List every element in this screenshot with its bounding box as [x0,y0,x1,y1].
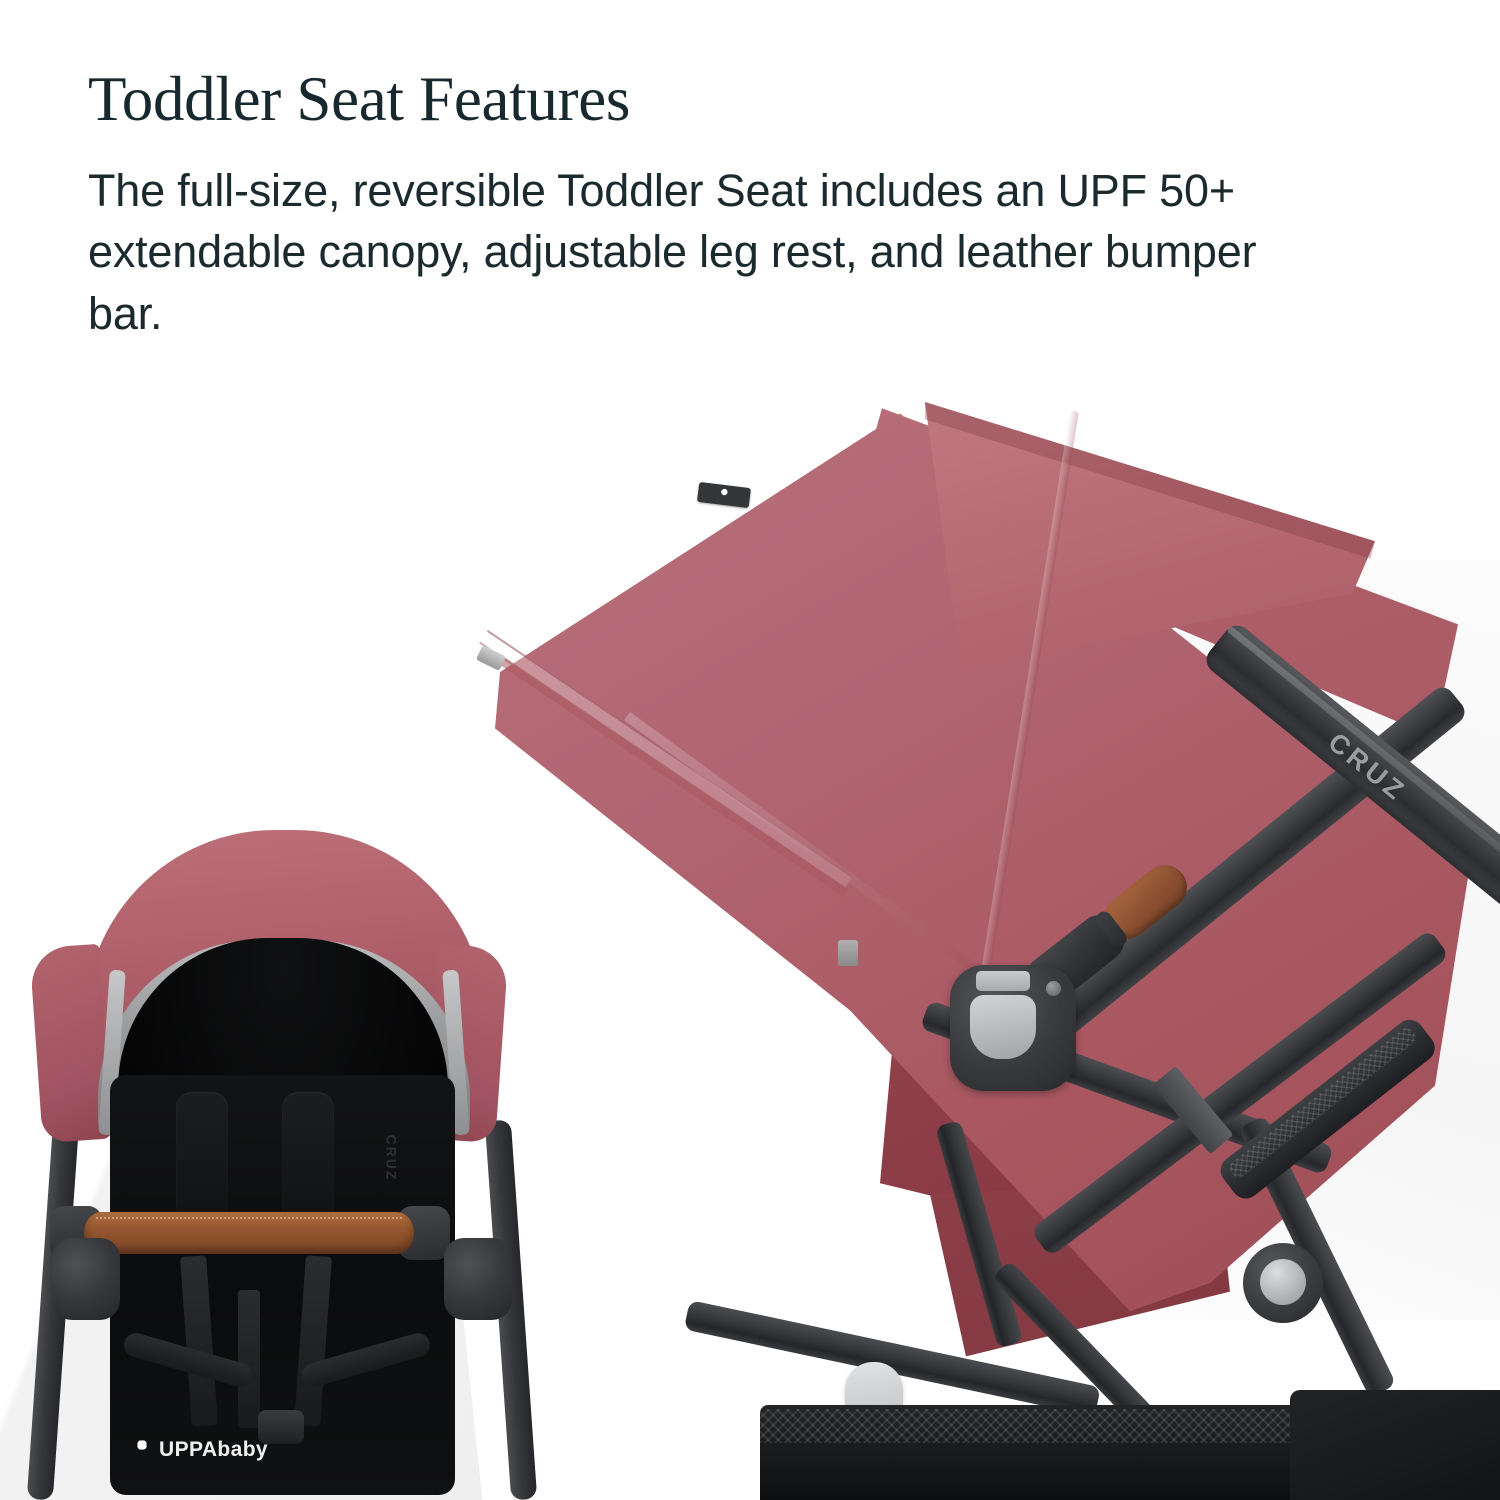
brand-logo: UPPAbaby [132,1438,268,1462]
recline-release-hub [950,965,1076,1091]
leather-bumper-bar [84,1212,414,1254]
text-block: Toddler Seat Features The full-size, rev… [88,66,1318,344]
brand-name: UPPAbaby [159,1438,268,1462]
page-title: Toddler Seat Features [88,66,1318,132]
frame-pivot-button [1243,1243,1323,1323]
hub-screw [1046,981,1061,996]
page-description: The full-size, reversible Toddler Seat i… [88,160,1303,344]
seat-model-mark: CRUZ [383,1135,399,1182]
product-feature-image: Toddler Seat Features The full-size, rev… [0,0,1500,1500]
uppababy-logo-tag [697,482,751,508]
uppababy-pinwheel-icon [132,1440,152,1460]
uppababy-pinwheel-icon [717,488,730,501]
left-stroller-image: CRUZ [0,820,560,1500]
frame-joint-right [444,1238,512,1320]
shoulder-pad-left [176,1092,228,1224]
bumper-bar-stitching [96,1217,402,1221]
harness-crotch-strap [238,1290,260,1428]
canopy-lower-zipper-pull-icon [838,940,858,966]
recline-tab [976,971,1030,991]
recline-release-button [970,995,1036,1059]
basket-side-flap [1290,1390,1500,1500]
shoulder-pad-right [282,1092,334,1224]
frame-joint-left [52,1238,120,1320]
